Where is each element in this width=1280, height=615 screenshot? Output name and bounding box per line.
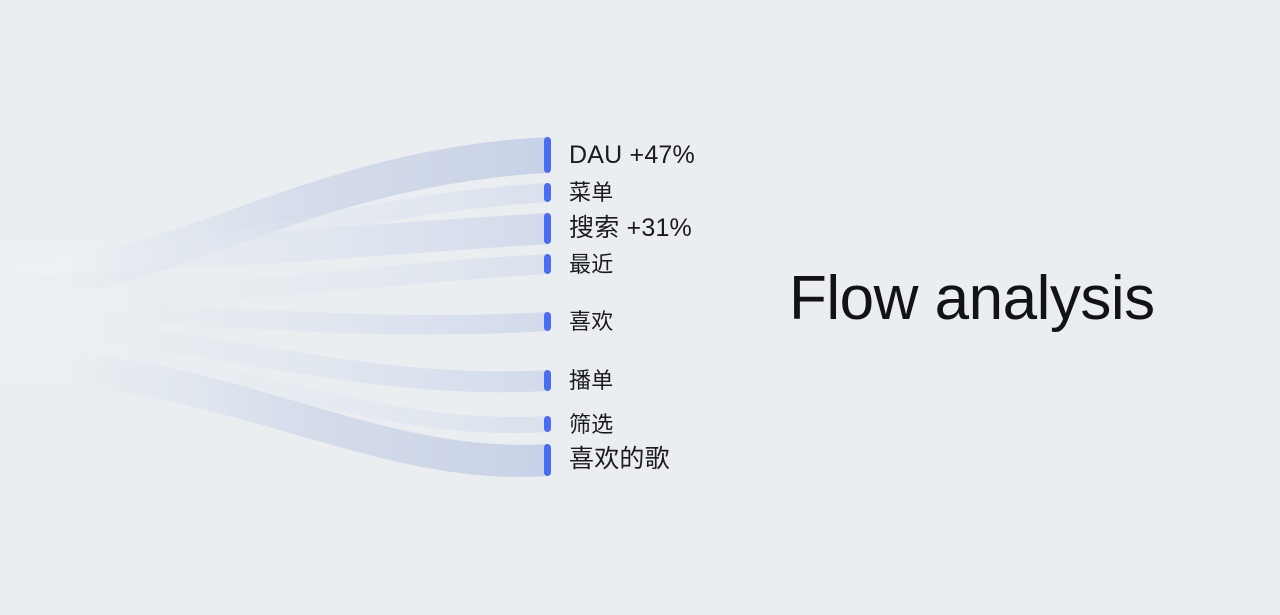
node-bar-search <box>544 213 551 244</box>
node-label-playlist[interactable]: 播单 <box>569 370 613 392</box>
flow-diagram-canvas: DAU +47% 菜单 搜索 +31% 最近 喜欢 播单 筛选 喜欢的歌 Flo… <box>0 0 1280 615</box>
node-label-liked[interactable]: 喜欢的歌 <box>569 447 670 472</box>
node-label-search[interactable]: 搜索 +31% <box>569 216 692 241</box>
node-bar-filter <box>544 416 551 432</box>
ribbon-group <box>0 137 548 477</box>
node-label-likes[interactable]: 喜欢 <box>569 311 613 333</box>
node-label-menu[interactable]: 菜单 <box>569 182 613 204</box>
node-bar-recent <box>544 254 551 274</box>
page-title: Flow analysis <box>789 268 1155 330</box>
node-bar-dau <box>544 137 551 173</box>
node-label-recent[interactable]: 最近 <box>569 254 613 276</box>
node-bar-likes <box>544 312 551 331</box>
node-bar-group <box>544 137 551 476</box>
node-label-filter[interactable]: 筛选 <box>569 414 613 436</box>
node-bar-menu <box>544 183 551 202</box>
node-bar-liked <box>544 444 551 476</box>
node-label-dau[interactable]: DAU +47% <box>569 143 695 168</box>
node-bar-playlist <box>544 370 551 391</box>
